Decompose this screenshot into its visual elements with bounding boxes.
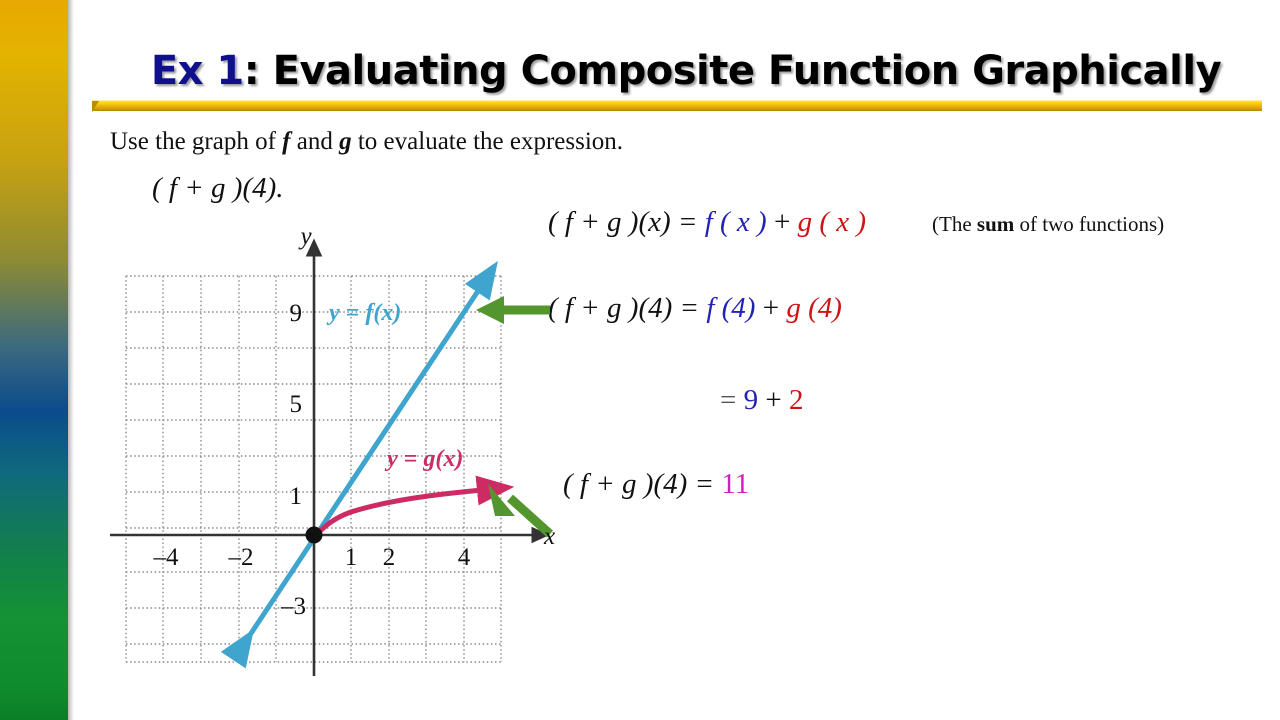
origin-dot <box>306 527 323 544</box>
curve-f-label: y = f(x) <box>326 300 401 326</box>
eq3-equals: = <box>720 384 744 416</box>
y-tick-neg3: –3 <box>280 593 306 620</box>
page-title: Ex 1: Evaluating Composite Function Grap… <box>96 48 1276 94</box>
slide-canvas: Ex 1: Evaluating Composite Function Grap… <box>0 0 1280 720</box>
eq2-plus: + <box>755 292 786 324</box>
annotation-arrows <box>476 296 550 534</box>
x-tick-neg2: –2 <box>228 544 254 571</box>
eq4-left-side: ( f + g )(4) = <box>563 468 721 500</box>
eq2-term-f: f (4) <box>706 292 755 324</box>
eq2-left-side: ( f + g )(4) = <box>548 292 706 324</box>
x-tick-neg4: –4 <box>153 544 180 571</box>
solution-line-3: = 9 + 2 <box>720 384 803 417</box>
eq1-left-side: ( f + g )(x) = <box>548 206 705 238</box>
prompt-conjunction: and <box>291 128 340 155</box>
y-tick-5: 5 <box>290 391 303 418</box>
eq3-value-g: 2 <box>789 384 804 416</box>
eq3-plus: + <box>758 384 789 416</box>
solution-line-4: ( f + g )(4) = 11 <box>563 468 749 501</box>
note-lead: (The <box>932 212 977 236</box>
prompt-function-g: g <box>339 128 352 155</box>
x-axis-label: x <box>543 523 555 550</box>
y-tick-9: 9 <box>290 300 303 327</box>
prompt-tail: to evaluate the expression. <box>352 128 623 155</box>
solution-line-1: ( f + g )(x) = f ( x ) + g ( x ) <box>548 206 866 239</box>
note-tail: of two functions) <box>1014 212 1164 236</box>
axes <box>110 254 534 676</box>
note-emphasis: sum <box>977 212 1014 236</box>
title-example-number: Ex 1 <box>151 48 244 94</box>
eq1-term-g: g ( x ) <box>798 206 866 238</box>
solution-line-2: ( f + g )(4) = f (4) + g (4) <box>548 292 842 325</box>
curve-g-label: y = g(x) <box>384 446 463 472</box>
prompt-lead: Use the graph of <box>110 128 282 155</box>
eq1-term-f: f ( x ) <box>705 206 767 238</box>
eq4-answer: 11 <box>721 468 749 500</box>
title-separator: : <box>244 48 273 94</box>
curve-f <box>236 288 480 656</box>
prompt-expression: ( f + g )(4). <box>152 172 284 205</box>
sidebar-shadow-edge <box>68 0 74 720</box>
x-tick-2: 2 <box>383 544 396 571</box>
x-tick-1: 1 <box>345 544 358 571</box>
prompt-text: Use the graph of f and g to evaluate the… <box>110 128 623 156</box>
function-graph: y x 9 5 1 –3 –4 –2 1 2 4 y = f(x) y = g(… <box>110 226 560 676</box>
solution-note: (The sum of two functions) <box>932 212 1164 237</box>
y-axis-label: y <box>297 226 312 250</box>
arrow-to-f-head <box>476 296 504 324</box>
title-divider-bar <box>92 100 1262 111</box>
decorative-gradient-sidebar <box>0 0 68 720</box>
prompt-function-f: f <box>282 128 290 155</box>
title-text: Evaluating Composite Function Graphicall… <box>273 48 1222 94</box>
x-tick-4: 4 <box>458 544 471 571</box>
y-tick-1: 1 <box>290 483 303 510</box>
eq3-value-f: 9 <box>744 384 759 416</box>
eq1-plus: + <box>767 206 798 238</box>
eq2-term-g: g (4) <box>786 292 842 324</box>
